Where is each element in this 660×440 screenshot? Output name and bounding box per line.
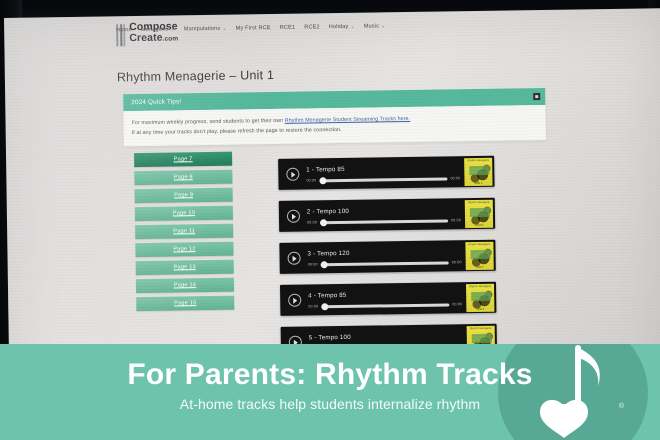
progress-slider[interactable] [320, 219, 448, 224]
page-link-label: Page 12 [173, 246, 195, 252]
nav-item-label: RCE1 [280, 25, 296, 31]
nav-item-music[interactable]: Music⌄ [364, 23, 386, 29]
nav-item-my-first-rce[interactable]: My First RCE [236, 25, 271, 32]
player-meta: 4 - Tempo 8500:0000:00 [301, 289, 466, 308]
nav-item-manipulations[interactable]: Manipulations⌄ [184, 26, 227, 33]
audio-player: 3 - Tempo 12000:0000:00Rhythm MenagerieU… [279, 240, 495, 274]
album-art-band [469, 166, 489, 175]
album-art-top-text: Rhythm Menagerie [464, 158, 492, 161]
duration-time: 00:00 [451, 218, 461, 222]
nav-item-label: Music [364, 23, 379, 29]
page-link-page-9[interactable]: Page 9 [135, 188, 233, 203]
album-art-caption: Unit 1 [464, 180, 492, 184]
player-controls: 00:0000:00 [308, 302, 462, 308]
progress-slider[interactable] [319, 177, 447, 182]
duration-time: 00:00 [452, 260, 462, 264]
nav-item-label: Menagerie [141, 27, 169, 33]
album-art-top-text: Rhythm Menagerie [466, 284, 494, 287]
page-link-label: Page 7 [174, 156, 193, 162]
page-link-page-14[interactable]: Page 14 [136, 278, 234, 293]
nav-item-rce2[interactable]: RCE2 [304, 24, 320, 30]
play-button[interactable] [287, 252, 300, 265]
track-title: 4 - Tempo 85 [308, 290, 462, 299]
nav-item-home[interactable]: Home [116, 27, 132, 33]
page-links-list: Page 7Page 8Page 9Page 10Page 11Page 12P… [134, 152, 234, 315]
slider-handle[interactable] [321, 303, 328, 310]
chevron-down-icon: ⌄ [350, 24, 354, 30]
page-link-label: Page 8 [174, 174, 193, 180]
current-time: 00:00 [307, 220, 317, 224]
duration-time: 00:00 [452, 302, 462, 306]
album-art-thumbnail: Rhythm MenagerieUnit 1 [465, 199, 493, 227]
slider-handle[interactable] [319, 177, 326, 184]
page-link-label: Page 10 [173, 210, 195, 216]
page-link-page-8[interactable]: Page 8 [134, 170, 232, 185]
play-button[interactable] [287, 210, 300, 223]
close-square-icon[interactable] [533, 93, 540, 100]
page-link-label: Page 13 [174, 264, 196, 270]
site-logo[interactable]: Compose Create.com [116, 21, 178, 46]
play-icon [293, 255, 297, 261]
track-title: 5 - Tempo 100 [309, 332, 463, 341]
logo-tld: .com [163, 35, 179, 42]
album-art-caption: Unit 1 [466, 264, 494, 268]
notice-heading: 2024 Quick Tips! [131, 98, 181, 106]
monitor-photo: Compose Create.com HomeMenagerie⌄Manipul… [0, 0, 660, 440]
album-art-caption: Unit 1 [465, 222, 493, 226]
page-link-label: Page 15 [174, 300, 196, 306]
chevron-down-icon: ⌄ [381, 23, 385, 29]
audio-player: 2 - Tempo 10000:0000:00Rhythm MenagerieU… [279, 198, 495, 232]
play-icon [292, 213, 296, 219]
nav-item-label: RCE2 [304, 24, 320, 30]
player-controls: 00:0000:00 [307, 218, 461, 224]
notice-body: For maximum weekly progress, send studen… [123, 105, 545, 146]
promo-overlay: ® For Parents: Rhythm Tracks At-home tra… [0, 344, 660, 440]
album-art-top-text: Rhythm Menagerie [467, 326, 495, 329]
page-link-page-7[interactable]: Page 7 [134, 152, 232, 167]
nav-item-label: My First RCE [236, 25, 271, 32]
album-art-top-text: Rhythm Menagerie [465, 200, 493, 203]
chevron-down-icon: ⌄ [222, 26, 226, 32]
page-title: Rhythm Menagerie – Unit 1 [117, 68, 274, 84]
chevron-down-icon: ⌄ [170, 26, 174, 32]
nav-item-label: Home [116, 27, 132, 33]
three-bars-logo-icon [116, 22, 125, 46]
site-header: Compose Create.com [116, 13, 586, 54]
progress-slider[interactable] [321, 303, 449, 308]
play-icon [291, 171, 295, 177]
page-link-label: Page 14 [174, 282, 196, 288]
slider-handle[interactable] [320, 219, 327, 226]
audio-player: 1 - Tempo 8500:0000:00Rhythm MenagerieUn… [278, 156, 494, 190]
nav-item-menagerie[interactable]: Menagerie⌄ [141, 26, 175, 33]
album-art-top-text: Rhythm Menagerie [465, 242, 493, 245]
duration-time: 00:00 [450, 176, 460, 180]
audio-player: 4 - Tempo 8500:0000:00Rhythm MenagerieUn… [280, 282, 496, 316]
album-art-thumbnail: Rhythm MenagerieUnit 1 [466, 283, 494, 311]
page-link-page-11[interactable]: Page 11 [135, 224, 233, 239]
player-controls: 00:0000:00 [308, 260, 462, 266]
track-title: 1 - Tempo 85 [306, 164, 460, 173]
player-meta: 3 - Tempo 12000:0000:00 [300, 247, 465, 266]
player-meta: 2 - Tempo 10000:0000:00 [300, 205, 465, 224]
student-streaming-tracks-link[interactable]: Rhythm Menagerie Student Streaming Track… [285, 116, 410, 124]
album-art-band [471, 292, 491, 301]
play-icon [293, 297, 297, 303]
album-art-band [471, 250, 491, 259]
play-button[interactable] [286, 168, 299, 181]
player-meta: 1 - Tempo 8500:0000:00 [299, 163, 464, 182]
album-art-thumbnail: Rhythm MenagerieUnit 1 [465, 241, 493, 269]
track-title: 2 - Tempo 100 [307, 206, 461, 215]
overlay-subtitle: At-home tracks help students internalize… [0, 396, 660, 412]
nav-item-label: Manipulations [184, 26, 221, 33]
overlay-title: For Parents: Rhythm Tracks [0, 358, 660, 392]
page-link-label: Page 9 [174, 192, 193, 198]
page-link-page-15[interactable]: Page 15 [136, 296, 234, 311]
notice-line-1-text: For maximum weekly progress, send studen… [132, 118, 285, 126]
slider-handle[interactable] [321, 261, 328, 268]
current-time: 00:00 [306, 178, 316, 182]
album-art-caption: Unit 1 [466, 306, 494, 310]
track-title: 3 - Tempo 120 [307, 248, 461, 257]
progress-slider[interactable] [321, 261, 449, 266]
play-button[interactable] [288, 294, 301, 307]
current-time: 00:00 [308, 304, 318, 308]
nav-item-label: Holiday [329, 24, 349, 30]
album-art-thumbnail: Rhythm MenagerieUnit 1 [464, 157, 492, 185]
page-link-label: Page 11 [173, 228, 195, 234]
quick-tips-notice: 2024 Quick Tips! For maximum weekly prog… [123, 88, 546, 146]
nav-item-rce1[interactable]: RCE1 [280, 25, 296, 31]
page-link-page-13[interactable]: Page 13 [136, 260, 234, 275]
page-link-page-12[interactable]: Page 12 [135, 242, 233, 257]
player-controls: 00:0000:00 [306, 176, 460, 182]
album-art-band [470, 208, 490, 217]
current-time: 00:00 [308, 262, 318, 266]
page-link-page-10[interactable]: Page 10 [135, 206, 233, 221]
nav-item-holiday[interactable]: Holiday⌄ [329, 24, 355, 30]
album-art-band [472, 334, 492, 343]
